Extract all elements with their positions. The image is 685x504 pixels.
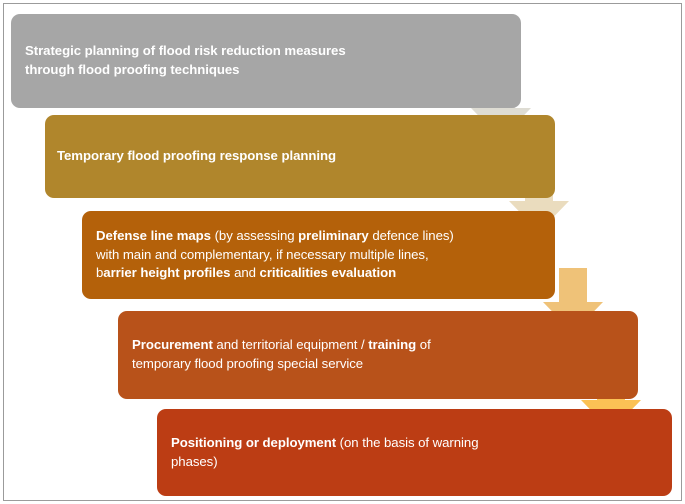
stage-1-label: Strategic planning of flood risk reducti… bbox=[11, 42, 360, 79]
stage-box-procurement-and-training[interactable]: Procurement and territorial equipment / … bbox=[118, 311, 638, 399]
stage-4-label: Procurement and territorial equipment / … bbox=[118, 336, 445, 373]
stage-box-positioning-or-deployment[interactable]: Positioning or deployment (on the basis … bbox=[157, 409, 672, 496]
stage-5-label: Positioning or deployment (on the basis … bbox=[157, 434, 493, 471]
stage-box-defense-line-maps[interactable]: Defense line maps (by assessing prelimin… bbox=[82, 211, 555, 299]
diagram-canvas: Strategic planning of flood risk reducti… bbox=[0, 0, 685, 504]
stage-2-label: Temporary flood proofing response planni… bbox=[45, 147, 350, 166]
stage-3-label: Defense line maps (by assessing prelimin… bbox=[82, 227, 468, 283]
stage-box-strategic-planning[interactable]: Strategic planning of flood risk reducti… bbox=[11, 14, 521, 108]
stage-box-temporary-response-planning[interactable]: Temporary flood proofing response planni… bbox=[45, 115, 555, 198]
